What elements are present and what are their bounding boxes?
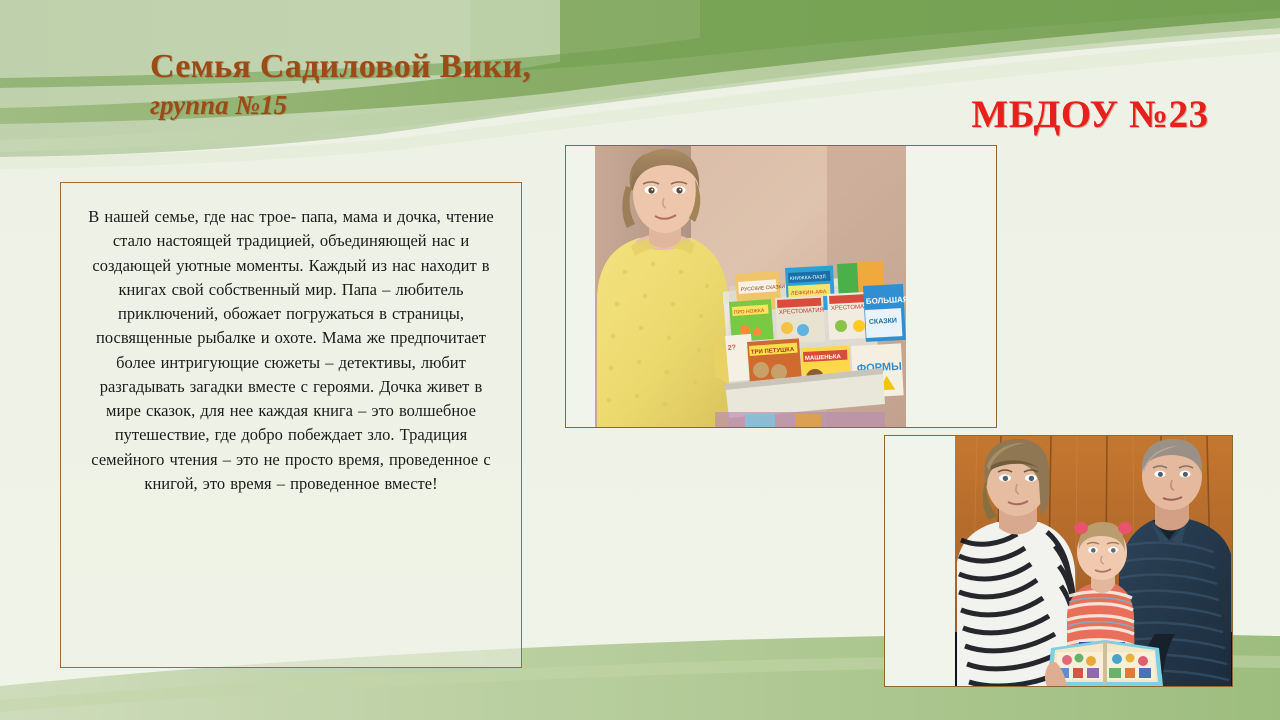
page-title: Семья Садиловой Вики, — [150, 48, 710, 86]
organization-title: МБДОУ №23 — [930, 92, 1250, 137]
family-story-textbox: В нашей семье, где нас трое- папа, мама … — [60, 182, 522, 668]
girl-with-bookshelf-photo: РУССКИЕ СКАЗКИ КНИЖКА-ПАЗЛ ЛЕФКИН-АФА ПР… — [595, 146, 906, 427]
family-reading-photo — [955, 436, 1233, 686]
svg-text:СКАЗКИ: СКАЗКИ — [869, 318, 897, 326]
slide-title-block: Семья Садиловой Вики, группа №15 — [150, 48, 710, 121]
family-reading-photo-frame — [884, 435, 1233, 687]
page-subtitle: группа №15 — [150, 89, 710, 121]
slide-canvas: Семья Садиловой Вики, группа №15 МБДОУ №… — [0, 0, 1280, 720]
svg-text:2?: 2? — [728, 344, 737, 352]
girl-with-bookshelf-photo-frame: РУССКИЕ СКАЗКИ КНИЖКА-ПАЗЛ ЛЕФКИН-АФА ПР… — [565, 145, 997, 428]
family-story-paragraph: В нашей семье, где нас трое- папа, мама … — [87, 205, 495, 496]
